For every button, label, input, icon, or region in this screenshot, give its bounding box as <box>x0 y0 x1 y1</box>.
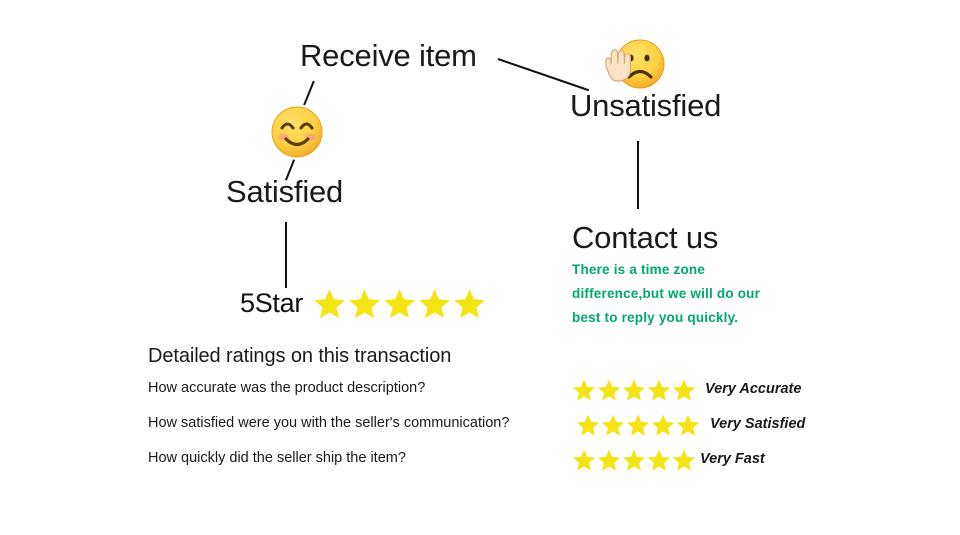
rating-stars <box>572 448 696 472</box>
rating-value: Very Fast <box>700 451 765 467</box>
connector-receive-to-satisfied-upper <box>303 81 315 106</box>
rating-stars <box>572 378 696 402</box>
satisfied-label: Satisfied <box>226 174 343 210</box>
rating-value: Very Accurate <box>705 381 801 397</box>
unsatisfied-label: Unsatisfied <box>570 88 721 124</box>
smiling-face-with-smiling-eyes-icon <box>269 104 325 160</box>
fivestar-stars <box>313 287 486 320</box>
connector-satisfied-to-fivestar <box>285 222 287 288</box>
rating-value: Very Satisfied <box>710 416 805 432</box>
fivestar-row: 5Star <box>240 287 486 320</box>
receive-item-label: Receive item <box>300 38 477 74</box>
contact-us-heading: Contact us <box>572 220 718 256</box>
detailed-ratings-title: Detailed ratings on this transaction <box>148 345 451 368</box>
rating-question: How quickly did the seller ship the item… <box>148 450 406 466</box>
rating-stars <box>576 413 700 437</box>
connector-unsatisfied-to-contact <box>637 141 639 209</box>
rating-question: How accurate was the product description… <box>148 380 425 396</box>
infographic-canvas: Receive item <box>0 0 960 535</box>
contact-us-message: There is a time zone difference,but we w… <box>572 258 772 330</box>
fivestar-label: 5Star <box>240 288 303 319</box>
frowning-face-with-raised-hand-icon <box>600 36 670 92</box>
rating-question: How satisfied were you with the seller's… <box>148 415 509 431</box>
connector-receive-to-unsatisfied <box>498 58 589 91</box>
